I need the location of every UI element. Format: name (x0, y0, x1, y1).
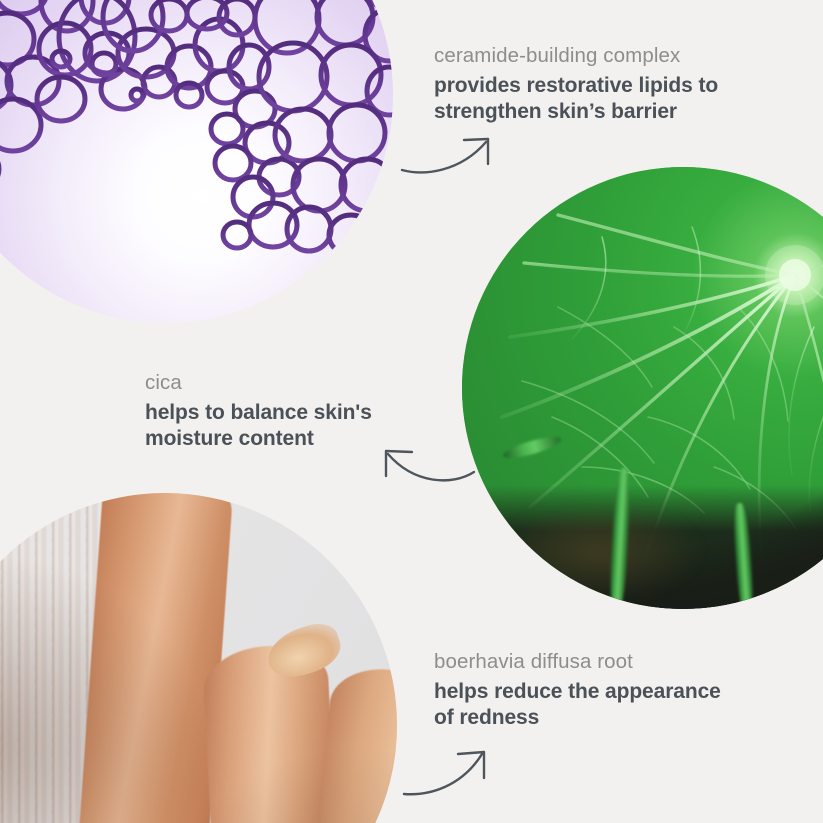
bubble-foam-texture (0, 0, 393, 323)
bubbles-image (0, 0, 393, 323)
soil-blur (497, 503, 700, 600)
benefit-line-1: provides restorative lipids to (434, 74, 718, 97)
benefit-line-2: strengthen skin’s barrier (434, 100, 677, 123)
benefit-text-cica: helps to balance skin's moisture content (145, 400, 372, 453)
roots-image (0, 493, 397, 823)
ingredient-label-boerhavia: boerhavia diffusa root (434, 650, 721, 674)
leaf-image (462, 167, 823, 609)
benefit-line-2: of redness (434, 706, 539, 729)
benefit-line-1: helps reduce the appearance (434, 680, 721, 703)
curved-arrow-up-right-icon (400, 748, 500, 800)
benefit-text-ceramide: provides restorative lipids to strengthe… (434, 73, 718, 126)
benefit-text-boerhavia: helps reduce the appearance of redness (434, 679, 721, 732)
annotation-boerhavia: boerhavia diffusa root helps reduce the … (434, 650, 721, 731)
annotation-ceramide: ceramide-building complex provides resto… (434, 44, 718, 125)
infographic-canvas: ceramide-building complex provides resto… (0, 0, 823, 823)
bubble-outlines-svg (0, 0, 393, 323)
curved-arrow-up-right-icon (398, 132, 508, 178)
ingredient-label-ceramide: ceramide-building complex (434, 44, 718, 68)
benefit-line-1: helps to balance skin's (145, 401, 372, 424)
benefit-line-2: moisture content (145, 427, 314, 450)
ingredient-label-cica: cica (145, 371, 372, 395)
roots-shading (0, 493, 397, 823)
annotation-cica: cica helps to balance skin's moisture co… (145, 371, 372, 452)
curved-arrow-up-left-icon (370, 442, 478, 488)
